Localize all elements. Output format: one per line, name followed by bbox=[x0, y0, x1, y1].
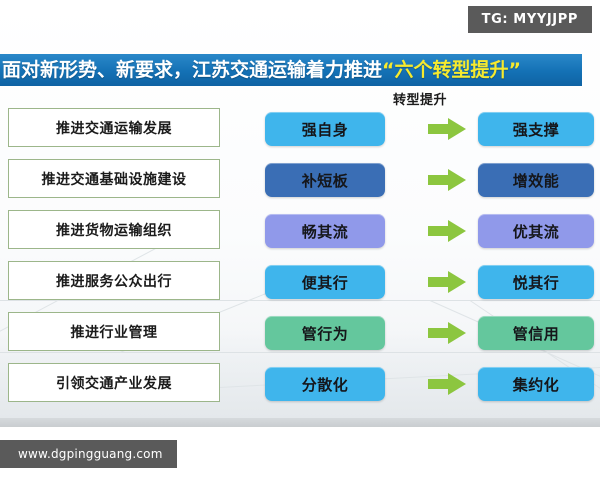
right-item-5[interactable]: 集约化 bbox=[478, 367, 594, 401]
arrow-right-icon bbox=[428, 271, 466, 293]
right-item-1[interactable]: 增效能 bbox=[478, 163, 594, 197]
right-item-2[interactable]: 优其流 bbox=[478, 214, 594, 248]
arrow-column bbox=[424, 112, 470, 418]
left-item-label: 推进行业管理 bbox=[71, 322, 158, 342]
arrow-slot-3 bbox=[424, 265, 470, 299]
transform-label: 转型提升 bbox=[393, 89, 447, 108]
page-title: 面对新形势、新要求，江苏交通运输着力推进“六个转型提升” bbox=[2, 61, 521, 80]
left-item-label: 推进货物运输组织 bbox=[56, 220, 172, 240]
right-item-label: 增效能 bbox=[513, 170, 560, 191]
slide-canvas: 面对新形势、新要求，江苏交通运输着力推进“六个转型提升” 推进交通运输发展 推进… bbox=[0, 0, 600, 480]
arrow-right-icon bbox=[428, 373, 466, 395]
title-highlight-text: “六个转型提升” bbox=[382, 59, 521, 81]
right-item-3[interactable]: 悦其行 bbox=[478, 265, 594, 299]
middle-item-1[interactable]: 补短板 bbox=[265, 163, 385, 197]
middle-item-0[interactable]: 强自身 bbox=[265, 112, 385, 146]
left-item-label: 推进服务公众出行 bbox=[56, 271, 172, 291]
right-item-label: 悦其行 bbox=[513, 272, 560, 293]
middle-item-label: 畅其流 bbox=[302, 221, 349, 242]
middle-item-label: 强自身 bbox=[302, 119, 349, 140]
title-lead-text: 面对新形势、新要求，江苏交通运输着力推进 bbox=[2, 59, 382, 81]
right-item-label: 优其流 bbox=[513, 221, 560, 242]
left-item-0[interactable]: 推进交通运输发展 bbox=[8, 108, 220, 147]
middle-item-3[interactable]: 便其行 bbox=[265, 265, 385, 299]
middle-item-label: 便其行 bbox=[302, 272, 349, 293]
left-item-1[interactable]: 推进交通基础设施建设 bbox=[8, 159, 220, 198]
arrow-right-icon bbox=[428, 220, 466, 242]
arrow-slot-1 bbox=[424, 163, 470, 197]
left-item-label: 推进交通运输发展 bbox=[56, 118, 172, 138]
arrow-slot-5 bbox=[424, 367, 470, 401]
left-item-label: 推进交通基础设施建设 bbox=[42, 169, 187, 189]
left-item-3[interactable]: 推进服务公众出行 bbox=[8, 261, 220, 300]
middle-item-label: 分散化 bbox=[302, 374, 349, 395]
left-item-4[interactable]: 推进行业管理 bbox=[8, 312, 220, 351]
left-column: 推进交通运输发展 推进交通基础设施建设 推进货物运输组织 推进服务公众出行 推进… bbox=[8, 108, 220, 414]
arrow-slot-0 bbox=[424, 112, 470, 146]
right-item-0[interactable]: 强支撑 bbox=[478, 112, 594, 146]
middle-item-2[interactable]: 畅其流 bbox=[265, 214, 385, 248]
right-column: 强支撑 增效能 优其流 悦其行 管信用 集约化 bbox=[478, 112, 594, 418]
right-item-4[interactable]: 管信用 bbox=[478, 316, 594, 350]
right-item-label: 集约化 bbox=[513, 374, 560, 395]
arrow-right-icon bbox=[428, 118, 466, 140]
right-item-label: 管信用 bbox=[513, 323, 560, 344]
middle-item-4[interactable]: 管行为 bbox=[265, 316, 385, 350]
middle-item-label: 管行为 bbox=[302, 323, 349, 344]
left-item-label: 引领交通产业发展 bbox=[56, 373, 172, 393]
left-item-5[interactable]: 引领交通产业发展 bbox=[8, 363, 220, 402]
watermark: www.dgpingguang.com bbox=[0, 440, 177, 468]
middle-item-label: 补短板 bbox=[302, 170, 349, 191]
arrow-right-icon bbox=[428, 169, 466, 191]
right-item-label: 强支撑 bbox=[513, 119, 560, 140]
middle-item-5[interactable]: 分散化 bbox=[265, 367, 385, 401]
stage-bottom-shade bbox=[0, 418, 600, 427]
middle-column: 强自身 补短板 畅其流 便其行 管行为 分散化 bbox=[265, 112, 385, 418]
arrow-slot-4 bbox=[424, 316, 470, 350]
slide-title-bar: 面对新形势、新要求，江苏交通运输着力推进“六个转型提升” bbox=[0, 54, 582, 86]
arrow-slot-2 bbox=[424, 214, 470, 248]
tg-badge: TG: MYYJJPP bbox=[468, 6, 592, 33]
left-item-2[interactable]: 推进货物运输组织 bbox=[8, 210, 220, 249]
arrow-right-icon bbox=[428, 322, 466, 344]
